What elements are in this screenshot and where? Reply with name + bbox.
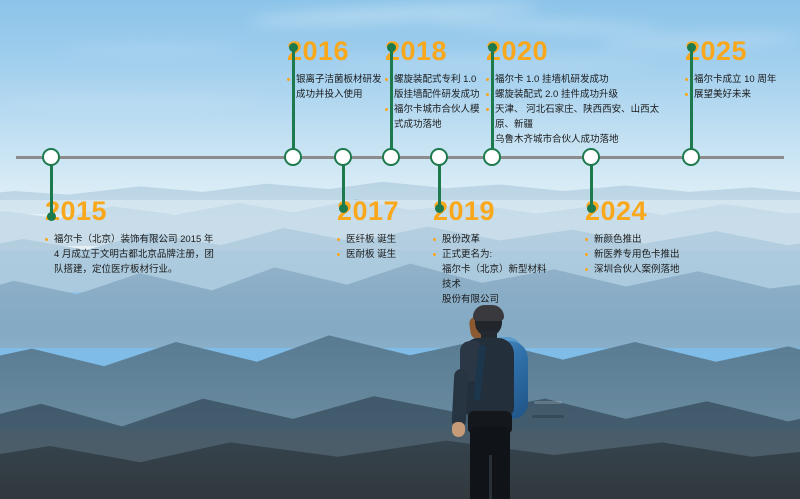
timeline-entry-2024[interactable]: 2024新颜色推出新医养专用色卡推出深圳合伙人案例落地	[585, 198, 705, 277]
timeline-node-2016[interactable]	[284, 148, 302, 166]
timeline-node-2024[interactable]	[582, 148, 600, 166]
bullet-item: 螺旋装配式 2.0 挂件成功升级	[486, 87, 676, 102]
timeline-node-2018[interactable]	[382, 148, 400, 166]
timeline-stem-cap-2017	[339, 204, 348, 213]
timeline-node-2017[interactable]	[334, 148, 352, 166]
bullet-item: 医纤板 诞生	[337, 232, 432, 247]
timeline-stem-cap-2016	[289, 43, 298, 52]
timeline-stem-cap-2024	[587, 204, 596, 213]
cloud-wisp	[430, 16, 660, 35]
bullet-list-2018: 螺旋装配式专利 1.0 版挂墙配件研发成功福尔卡城市合伙人模 式成功落地	[385, 72, 485, 132]
timeline-node-2025[interactable]	[682, 148, 700, 166]
bullet-item: 福尔卡城市合伙人模 式成功落地	[385, 102, 485, 132]
year-label-2015: 2015	[45, 198, 220, 225]
bullet-item: 股份改革	[433, 232, 553, 247]
timeline-infographic: 2015福尔卡（北京）装饰有限公司 2015 年 4 月成立于文明古都北京品牌注…	[0, 0, 800, 499]
timeline-entry-2025[interactable]: 2025福尔卡成立 10 周年展望美好未来	[685, 38, 795, 102]
timeline-stem-cap-2025	[687, 43, 696, 52]
timeline-entry-2018[interactable]: 2018螺旋装配式专利 1.0 版挂墙配件研发成功福尔卡城市合伙人模 式成功落地	[385, 38, 485, 132]
backpack-seam	[534, 401, 562, 404]
year-label-2019: 2019	[433, 198, 553, 225]
bullet-item: 展望美好未来	[685, 87, 795, 102]
timeline-stem-cap-2015	[47, 212, 56, 221]
bullet-item: 天津、 河北石家庄、陕西西安、山西太原、新疆 乌鲁木齐城市合伙人成功落地	[486, 102, 676, 147]
bullet-item: 正式更名为: 福尔卡（北京）新型材料技术 股份有限公司	[433, 247, 553, 307]
hiker-silhouette	[440, 305, 560, 499]
backpack-seam	[532, 415, 564, 418]
bullet-list-2020: 福尔卡 1.0 挂墙机研发成功螺旋装配式 2.0 挂件成功升级天津、 河北石家庄…	[486, 72, 676, 147]
leg-separation	[489, 455, 492, 499]
bullet-list-2024: 新颜色推出新医养专用色卡推出深圳合伙人案例落地	[585, 232, 705, 277]
timeline-entry-2020[interactable]: 2020福尔卡 1.0 挂墙机研发成功螺旋装配式 2.0 挂件成功升级天津、 河…	[486, 38, 676, 147]
timeline-stem-2020	[491, 47, 494, 157]
bullet-item: 新颜色推出	[585, 232, 705, 247]
timeline-stem-2015	[50, 157, 53, 217]
timeline-stem-2018	[390, 47, 393, 157]
timeline-stem-cap-2019	[435, 204, 444, 213]
year-label-2024: 2024	[585, 198, 705, 225]
timeline-entry-2015[interactable]: 2015福尔卡（北京）装饰有限公司 2015 年 4 月成立于文明古都北京品牌注…	[45, 198, 220, 277]
year-label-2025: 2025	[685, 38, 795, 65]
year-label-2017: 2017	[337, 198, 432, 225]
timeline-stem-cap-2020	[488, 43, 497, 52]
bullet-list-2019: 股份改革正式更名为: 福尔卡（北京）新型材料技术 股份有限公司	[433, 232, 553, 307]
bullet-item: 福尔卡（北京）装饰有限公司 2015 年 4 月成立于文明古都北京品牌注册，团 …	[45, 232, 220, 277]
timeline-stem-cap-2018	[387, 43, 396, 52]
year-label-2016: 2016	[287, 38, 387, 65]
bullet-item: 银离子洁菌板材研发 成功并投入使用	[287, 72, 387, 102]
cloud-wisp	[0, 96, 260, 108]
bullet-list-2016: 银离子洁菌板材研发 成功并投入使用	[287, 72, 387, 102]
bullet-item: 新医养专用色卡推出	[585, 247, 705, 262]
bullet-list-2017: 医纤板 诞生医耐板 诞生	[337, 232, 432, 262]
bullet-item: 福尔卡 1.0 挂墙机研发成功	[486, 72, 676, 87]
timeline-axis	[16, 156, 784, 159]
timeline-entry-2019[interactable]: 2019股份改革正式更名为: 福尔卡（北京）新型材料技术 股份有限公司	[433, 198, 553, 307]
timeline-stem-2025	[690, 47, 693, 157]
left-arm	[451, 369, 468, 428]
year-label-2020: 2020	[486, 38, 676, 65]
bullet-item: 医耐板 诞生	[337, 247, 432, 262]
beanie-hat	[473, 305, 504, 321]
bullet-item: 福尔卡成立 10 周年	[685, 72, 795, 87]
timeline-node-2019[interactable]	[430, 148, 448, 166]
bullet-list-2015: 福尔卡（北京）装饰有限公司 2015 年 4 月成立于文明古都北京品牌注册，团 …	[45, 232, 220, 277]
bullet-item: 深圳合伙人案例落地	[585, 262, 705, 277]
timeline-stem-2016	[292, 47, 295, 157]
timeline-node-2020[interactable]	[483, 148, 501, 166]
timeline-entry-2016[interactable]: 2016银离子洁菌板材研发 成功并投入使用	[287, 38, 387, 102]
timeline-node-2015[interactable]	[42, 148, 60, 166]
bullet-list-2025: 福尔卡成立 10 周年展望美好未来	[685, 72, 795, 102]
timeline-entry-2017[interactable]: 2017医纤板 诞生医耐板 诞生	[337, 198, 432, 262]
left-hand	[452, 422, 465, 437]
year-label-2018: 2018	[385, 38, 485, 65]
cloud-wisp	[60, 44, 240, 53]
bullet-item: 螺旋装配式专利 1.0 版挂墙配件研发成功	[385, 72, 485, 102]
